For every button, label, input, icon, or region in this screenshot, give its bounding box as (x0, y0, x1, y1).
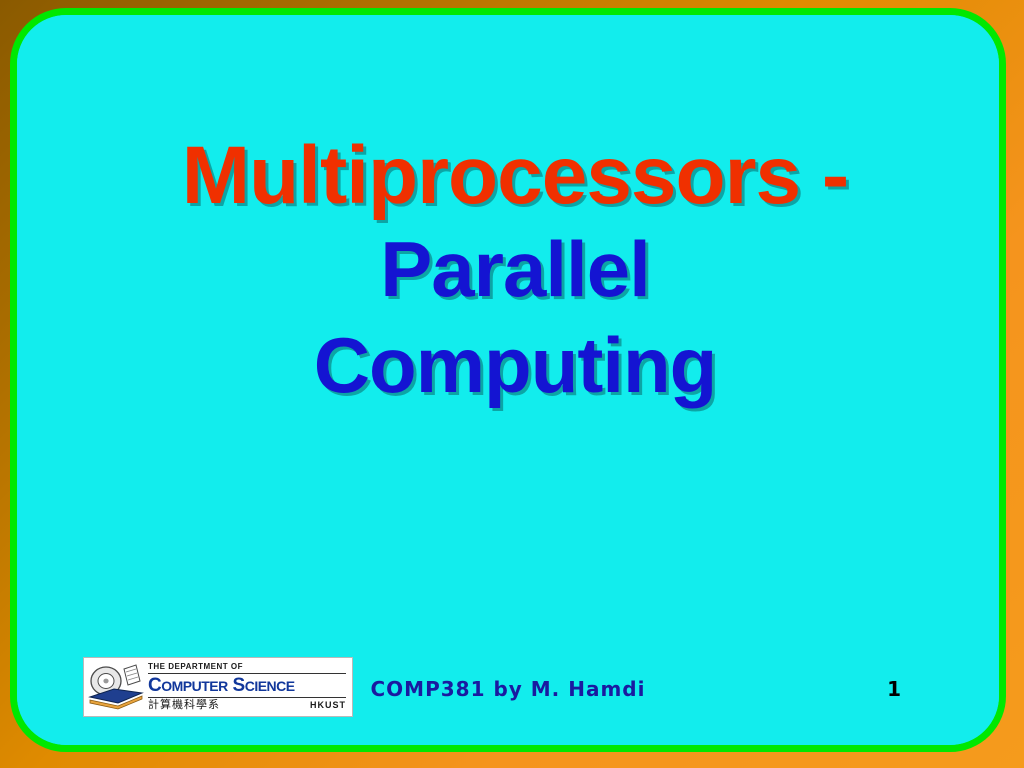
logo-department-label: THE DEPARTMENT OF (148, 663, 346, 674)
footer-course-text: COMP381 by M. Hamdi (17, 677, 999, 701)
title-line-2: Parallel (57, 229, 973, 311)
footer-page-number: 1 (887, 677, 901, 701)
logo-university: HKUST (310, 701, 346, 710)
page-title: Multiprocessors - Parallel Computing (57, 133, 973, 407)
slide-canvas: Multiprocessors - Parallel Computing (17, 15, 999, 745)
slide-footer: THE DEPARTMENT OF COMPUTER SCIENCE 計算機科學… (17, 657, 999, 719)
slide-frame: Multiprocessors - Parallel Computing (10, 8, 1006, 752)
logo-chinese-name: 計算機科學系 (148, 700, 220, 711)
slide: Multiprocessors - Parallel Computing (0, 0, 1024, 768)
title-line-1: Multiprocessors - (57, 133, 973, 219)
title-line-3: Computing (57, 325, 973, 407)
